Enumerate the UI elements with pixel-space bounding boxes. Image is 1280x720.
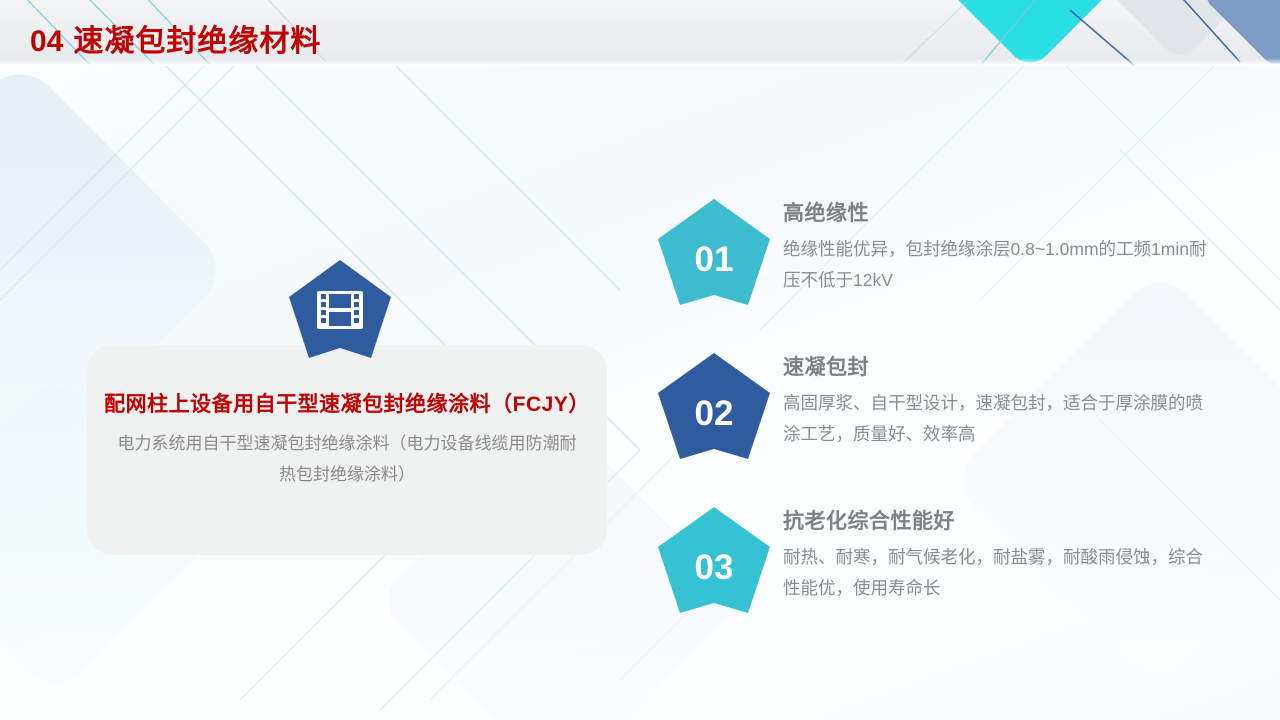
feature-body-01: 高绝缘性 绝缘性能优异，包封绝缘涂层0.8~1.0mm的工频1min耐压不低于1… bbox=[773, 196, 1235, 296]
pentagon-badge-number-02: 02 bbox=[655, 350, 773, 462]
product-card-text: 配网柱上设备用自干型速凝包封绝缘涂料（FCJY） 电力系统用自干型速凝包封绝缘涂… bbox=[87, 390, 607, 490]
feature-desc-03: 耐热、耐寒，耐气候老化，耐盐雾，耐酸雨侵蚀，综合性能优，使用寿命长 bbox=[783, 542, 1215, 604]
page-title: 04速凝包封绝缘材料 bbox=[30, 16, 321, 60]
pentagon-badge-number-01: 01 bbox=[655, 196, 773, 308]
pentagon-badge-number-03: 03 bbox=[655, 504, 773, 616]
feature-item-03: 03 抗老化综合性能好 耐热、耐寒，耐气候老化，耐盐雾，耐酸雨侵蚀，综合性能优，… bbox=[655, 504, 1235, 616]
product-card-title: 配网柱上设备用自干型速凝包封绝缘涂料（FCJY） bbox=[87, 390, 607, 420]
page-title-text: 速凝包封绝缘材料 bbox=[73, 25, 321, 58]
header-bar: 04速凝包封绝缘材料 bbox=[0, 0, 1280, 66]
product-card-subtitle: 电力系统用自干型速凝包封绝缘涂料（电力设备线缆用防潮耐热包封绝缘涂料） bbox=[87, 428, 607, 490]
feature-body-03: 抗老化综合性能好 耐热、耐寒，耐气候老化，耐盐雾，耐酸雨侵蚀，综合性能优，使用寿… bbox=[773, 504, 1235, 604]
feature-title-02: 速凝包封 bbox=[783, 354, 1235, 382]
film-strip-pentagon-icon bbox=[287, 258, 393, 360]
feature-title-03: 抗老化综合性能好 bbox=[783, 508, 1235, 536]
feature-title-01: 高绝缘性 bbox=[783, 200, 1235, 228]
feature-body-02: 速凝包封 高固厚浆、自干型设计，速凝包封，适合于厚涂膜的喷涂工艺，质量好、效率高 bbox=[773, 350, 1235, 450]
feature-item-02: 02 速凝包封 高固厚浆、自干型设计，速凝包封，适合于厚涂膜的喷涂工艺，质量好、… bbox=[655, 350, 1235, 462]
feature-desc-01: 绝缘性能优异，包封绝缘涂层0.8~1.0mm的工频1min耐压不低于12kV bbox=[783, 234, 1215, 296]
pentagon-badge-02: 02 bbox=[655, 350, 773, 462]
pentagon-badge-03: 03 bbox=[655, 504, 773, 616]
feature-item-01: 01 高绝缘性 绝缘性能优异，包封绝缘涂层0.8~1.0mm的工频1min耐压不… bbox=[655, 196, 1235, 308]
slide-root: 04速凝包封绝缘材料 配网柱上设备用自干型速凝包封绝 bbox=[0, 0, 1280, 720]
page-title-number: 04 bbox=[30, 25, 63, 58]
pentagon-badge-01: 01 bbox=[655, 196, 773, 308]
feature-desc-02: 高固厚浆、自干型设计，速凝包封，适合于厚涂膜的喷涂工艺，质量好、效率高 bbox=[783, 388, 1215, 450]
feature-list: 01 高绝缘性 绝缘性能优异，包封绝缘涂层0.8~1.0mm的工频1min耐压不… bbox=[655, 196, 1235, 658]
